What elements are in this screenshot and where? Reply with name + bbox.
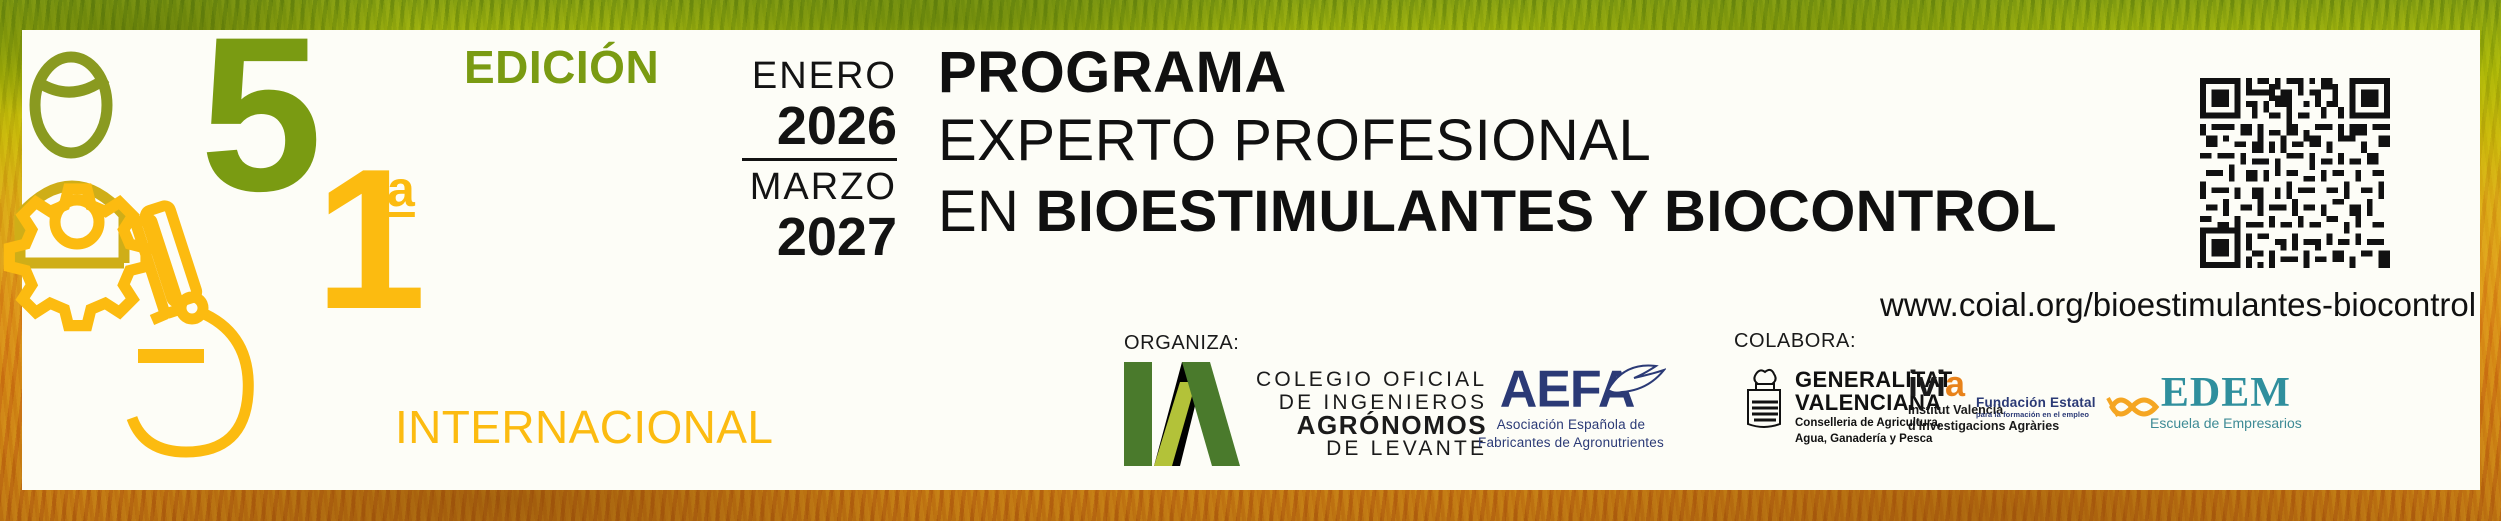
coial-mark-icon — [1124, 362, 1240, 466]
end-year: 2027 — [737, 209, 897, 265]
aefa-logo-group: AEFA® Asociación Española de Fabricantes… — [1478, 358, 1664, 451]
end-month: MARZO — [737, 165, 897, 209]
ivia-letters-ivi: ivi — [1908, 363, 1945, 404]
fundacion-line-1: Fundación Estatal — [1976, 395, 2096, 410]
qr-code-icon[interactable] — [2196, 78, 2394, 268]
title-line-subject: EN BIOESTIMULANTES Y BIOCONTROL — [938, 176, 2057, 248]
edem-wordmark: EDEM — [2150, 372, 2302, 414]
ivia-letter-a: a — [1945, 363, 1964, 404]
coial-line-3: AGRÓNOMOS — [1256, 414, 1487, 437]
coial-logo-group: COLEGIO OFICIAL DE INGENIEROS AGRÓNOMOS … — [1124, 362, 1487, 466]
event-banner: 5 EDICIÓN 1 a INTERNACIONAL ENERO 2026 M… — [0, 0, 2501, 521]
aefa-subtitle-2: Fabricantes de Agronutrientes — [1478, 435, 1664, 451]
international-block: 1 a INTERNACIONAL — [315, 150, 426, 330]
title-preposition: EN — [938, 179, 1036, 244]
title-line-programa: PROGRAMA — [938, 40, 2057, 106]
international-label: INTERNACIONAL — [395, 400, 773, 454]
date-divider — [742, 158, 897, 161]
coial-line-1: COLEGIO OFICIAL — [1256, 368, 1487, 391]
organiza-kicker: ORGANIZA: — [1124, 332, 1239, 355]
colabora-kicker: COLABORA: — [1734, 330, 1856, 353]
aefa-leaf-icon — [1604, 360, 1666, 400]
coial-wordmark: COLEGIO OFICIAL DE INGENIEROS AGRÓNOMOS … — [1256, 368, 1487, 460]
fundacion-logo-group: Fundación Estatal para la formación en e… — [1976, 390, 2166, 424]
generalitat-shield-icon — [1742, 368, 1786, 430]
international-ordinal: a — [387, 160, 415, 218]
edition-block: 5 EDICIÓN — [200, 14, 316, 214]
title-line-experto: EXPERTO PROFESIONAL — [938, 106, 2057, 176]
edem-subtitle: Escuela de Empresarios — [2150, 415, 2302, 431]
title-subject: BIOESTIMULANTES Y BIOCONTROL — [1036, 179, 2057, 244]
start-year: 2026 — [737, 98, 897, 154]
fundacion-line-2: para la formación en el empleo — [1976, 410, 2096, 419]
edition-label: EDICIÓN — [464, 40, 659, 94]
edem-logo-group: EDEM Escuela de Empresarios — [2150, 372, 2302, 431]
website-url[interactable]: www.coial.org/bioestimulantes-biocontrol — [1880, 286, 2476, 324]
generalitat-subtitle-2: Agua, Ganadería y Pesca — [1795, 433, 1953, 446]
fundacion-wordmark: Fundación Estatal para la formación en e… — [1976, 395, 2096, 419]
edition-number: 5 — [200, 14, 316, 214]
coial-line-4: DE LEVANTE — [1256, 437, 1487, 460]
content-card-notch — [22, 30, 100, 490]
aefa-subtitle-1: Asociación Española de — [1478, 417, 1664, 433]
start-month: ENERO — [737, 54, 897, 98]
aefa-wordmark: AEFA® — [1500, 358, 1643, 415]
date-range: ENERO 2026 MARZO 2027 — [737, 54, 897, 265]
program-title: PROGRAMA EXPERTO PROFESIONAL EN BIOESTIM… — [938, 40, 2057, 248]
